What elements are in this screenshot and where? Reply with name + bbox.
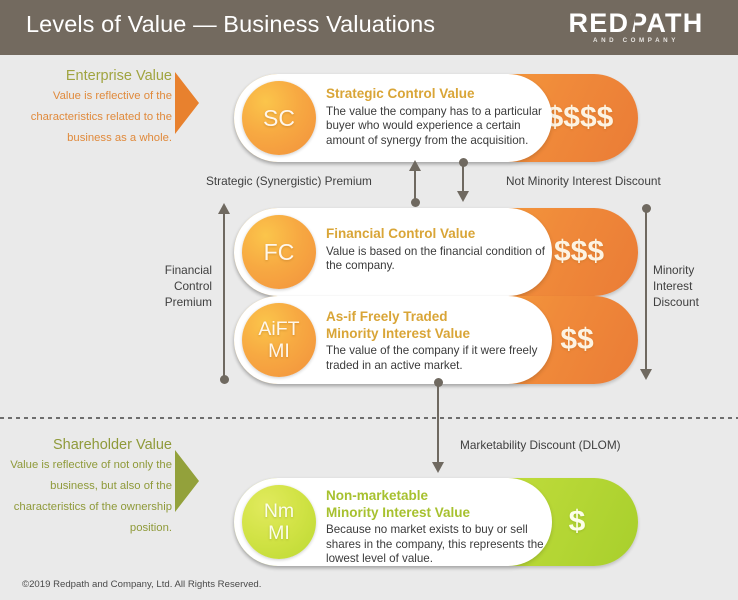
- card-text-block: Financial Control Value Value is based o…: [326, 226, 546, 274]
- card-title-line2: Minority Interest Value: [326, 505, 546, 522]
- logo-tagline: AND COMPANY: [550, 37, 722, 44]
- card-badge-label: FC: [264, 241, 295, 264]
- label-strategic-premium: Strategic (Synergistic) Premium: [206, 174, 372, 188]
- card-description: The value of the company if it were free…: [326, 344, 546, 373]
- callout-enterprise-title: Enterprise Value: [12, 66, 172, 86]
- arrow-down-line: [462, 163, 464, 193]
- callout-enterprise-text: Enterprise Value Value is reflective of …: [12, 66, 172, 149]
- card-non-marketable-minority-interest: $ Nm MI Non-marketable Minority Interest…: [234, 478, 638, 566]
- copyright-footer: ©2019 Redpath and Company, Ltd. All Righ…: [22, 579, 261, 590]
- card-badge-aift-mi: AiFT MI: [242, 303, 316, 377]
- marketability-arrow-head-icon: [432, 462, 444, 473]
- card-description: Value is based on the financial conditio…: [326, 245, 546, 274]
- label-line-1: Minority: [653, 262, 723, 278]
- card-badge-fc: FC: [242, 215, 316, 289]
- label-minority-interest-discount: Minority Interest Discount: [653, 262, 723, 310]
- redpath-logo: REDPATH AND COMPANY: [550, 9, 722, 47]
- callout-shareholder-value: Shareholder Value Value is reflective of…: [4, 435, 172, 539]
- card-title-line2: Minority Interest Value: [326, 326, 546, 343]
- card-badge-label-line2: MI: [268, 522, 290, 544]
- card-dollars-aift: $$: [544, 296, 610, 384]
- card-badge-sc: SC: [242, 81, 316, 155]
- card-description: The value the company has to a particula…: [326, 105, 546, 149]
- callout-enterprise-arrow-icon: [175, 72, 199, 134]
- card-description: Because no market exists to buy or sell …: [326, 523, 546, 567]
- page-title: Levels of Value — Business Valuations: [26, 11, 435, 38]
- card-dollars-nonmarketable: $: [556, 478, 598, 566]
- card-text-block: Non-marketable Minority Interest Value B…: [326, 488, 546, 567]
- card-strategic-control-value: $$$$ SC Strategic Control Value The valu…: [234, 74, 638, 162]
- left-arrow-line: [223, 213, 225, 379]
- card-title: Financial Control Value: [326, 226, 546, 243]
- infographic-root: Levels of Value — Business Valuations RE…: [0, 0, 738, 600]
- arrow-up-line: [414, 170, 416, 200]
- callout-shareholder-arrow-icon: [175, 450, 199, 512]
- arrow-down-head-icon: [457, 191, 469, 202]
- label-line-3: Discount: [653, 294, 723, 310]
- label-financial-control-premium: Financial Control Premium: [150, 262, 212, 310]
- callout-shareholder-title: Shareholder Value: [4, 435, 172, 455]
- card-title: As-if Freely Traded: [326, 309, 546, 326]
- callout-enterprise-value: Enterprise Value Value is reflective of …: [12, 66, 172, 149]
- page-header: Levels of Value — Business Valuations RE…: [0, 0, 738, 55]
- card-badge-nm-mi: Nm MI: [242, 485, 316, 559]
- card-title: Strategic Control Value: [326, 86, 546, 103]
- card-badge-label: Nm: [264, 500, 294, 522]
- label-line-2: Interest: [653, 278, 723, 294]
- label-not-minority-interest-discount: Not Minority Interest Discount: [506, 174, 661, 188]
- label-line-2: Control: [150, 278, 212, 294]
- card-text-block: Strategic Control Value The value the co…: [326, 86, 546, 148]
- callout-shareholder-text: Shareholder Value Value is reflective of…: [4, 435, 172, 539]
- card-as-if-freely-traded: $$ AiFT MI As-if Freely Traded Minority …: [234, 296, 638, 384]
- arrow-up-dot-icon: [411, 198, 420, 207]
- card-title: Non-marketable: [326, 488, 546, 505]
- right-arrow-line: [645, 209, 647, 371]
- label-line-1: Financial: [150, 262, 212, 278]
- callout-shareholder-body: Value is reflective of not only the busi…: [4, 455, 172, 539]
- card-badge-label-line2: MI: [268, 340, 290, 362]
- label-line-3: Premium: [150, 294, 212, 310]
- left-arrow-dot-icon: [220, 375, 229, 384]
- callout-enterprise-body: Value is reflective of the characteristi…: [12, 86, 172, 149]
- section-divider: [0, 417, 738, 419]
- right-arrow-head-icon: [640, 369, 652, 380]
- card-badge-label: SC: [263, 107, 295, 130]
- card-financial-control-value: $$$ FC Financial Control Value Value is …: [234, 208, 638, 296]
- card-badge-label: AiFT: [258, 318, 299, 340]
- marketability-arrow-line: [437, 383, 439, 464]
- card-text-block: As-if Freely Traded Minority Interest Va…: [326, 309, 546, 373]
- label-marketability-discount: Marketability Discount (DLOM): [460, 438, 621, 452]
